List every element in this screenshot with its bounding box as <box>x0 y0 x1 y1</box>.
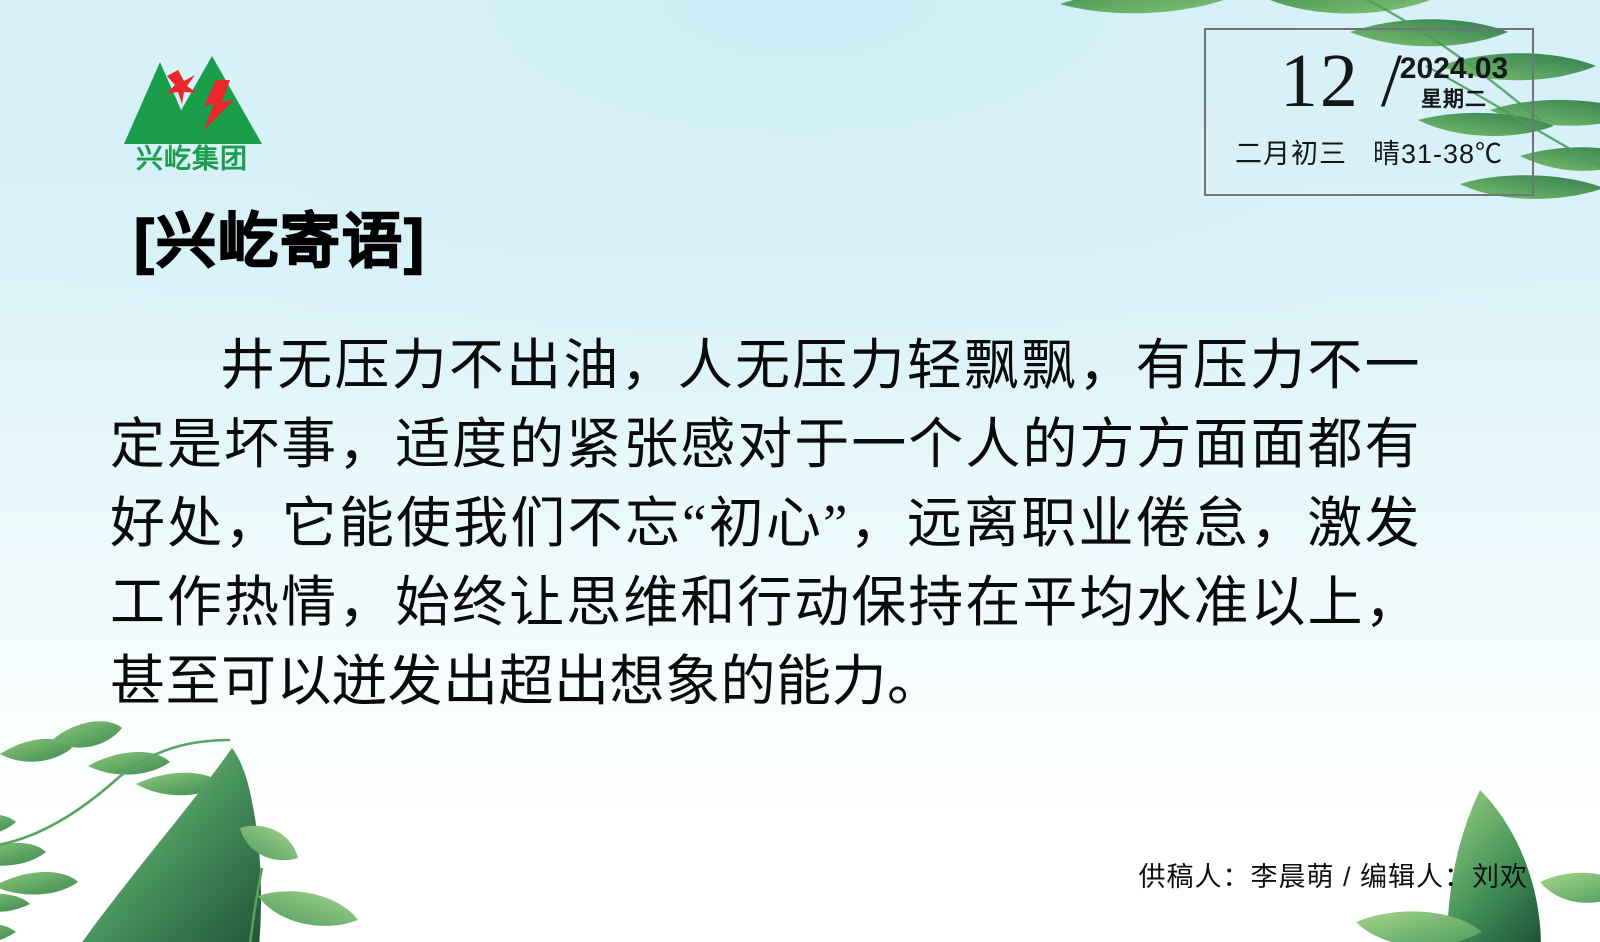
date-weekday: 星期二 <box>1384 86 1524 114</box>
date-year-month: 2024.03 <box>1384 52 1524 86</box>
poster-canvas: 兴屹集团 12 / 2024.03 星期二 二月初三 晴31-38℃ [兴屹寄语… <box>0 0 1600 942</box>
company-logo: 兴屹集团 <box>112 44 272 174</box>
date-lunar-date: 二月初三 <box>1235 138 1347 170</box>
body-paragraph: 井无压力不出油，人无压力轻飘飘，有压力不一定是坏事，适度的紧张感对于一个人的方方… <box>110 326 1420 721</box>
contributor-credit: 供稿人：李晨萌 / 编辑人：刘欢 <box>1138 860 1528 894</box>
logo-wordmark: 兴屹集团 <box>136 143 248 174</box>
page-title: [兴屹寄语] <box>134 206 426 278</box>
date-card: 12 / 2024.03 星期二 二月初三 晴31-38℃ <box>1204 28 1534 196</box>
leaf-cluster-bottom-right-decoration <box>1330 762 1600 942</box>
date-day-number: 12 / <box>1224 38 1404 124</box>
date-weather: 晴31-38℃ <box>1373 138 1503 170</box>
body-text-block: 井无压力不出油，人无压力轻飘飘，有压力不一定是坏事，适度的紧张感对于一个人的方方… <box>110 326 1420 721</box>
date-year-month-group: 2024.03 星期二 <box>1384 52 1524 114</box>
date-lunar-weather-row: 二月初三 晴31-38℃ <box>1206 138 1532 170</box>
